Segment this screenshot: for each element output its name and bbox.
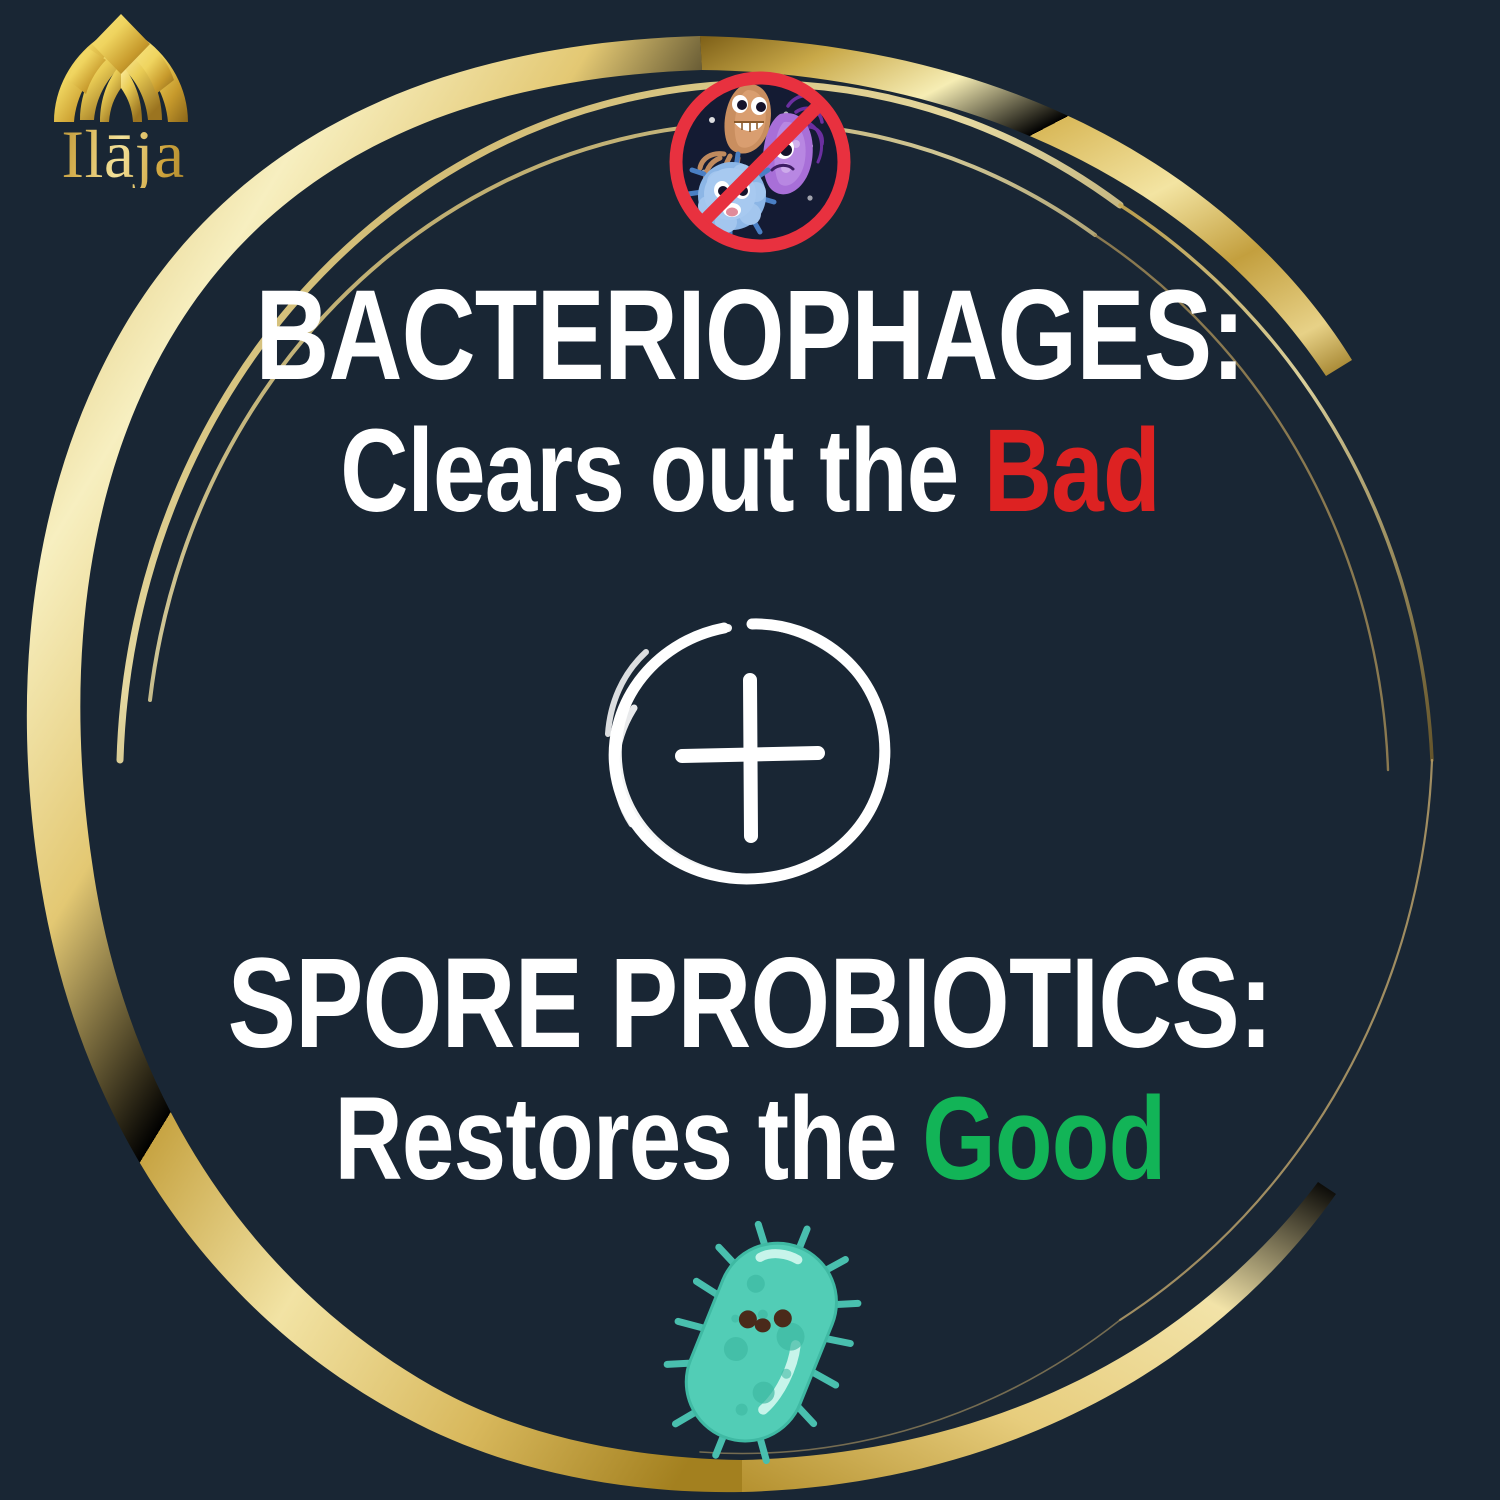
sketch-circle-plus-icon [588,612,910,890]
bacteriophages-title: BACTERIOPHAGES: [150,272,1350,400]
infographic-poster: Ilāja [0,0,1500,1500]
brand-wordmark: Ilāja [28,120,218,188]
spore-probiotics-subtitle-prefix: Restores the [335,1073,923,1205]
bacteriophages-subtitle-prefix: Clears out the [340,405,984,537]
brand-logo: Ilāja [28,10,218,200]
spore-probiotics-block: SPORE PROBIOTICS: Restores the Good [0,940,1500,1198]
lotus-fan-emblem-icon [46,10,196,130]
good-probiotic-bacterium-icon [636,1212,886,1474]
bacteriophages-subtitle: Clears out the Bad [150,412,1350,530]
spore-probiotics-subtitle-accent: Good [922,1073,1165,1205]
spore-probiotics-title: SPORE PROBIOTICS: [150,940,1350,1068]
bacteriophages-block: BACTERIOPHAGES: Clears out the Bad [0,272,1500,530]
bacteriophages-subtitle-accent: Bad [984,405,1160,537]
spore-probiotics-subtitle: Restores the Good [150,1080,1350,1198]
no-bad-bacteria-icon [660,62,860,262]
